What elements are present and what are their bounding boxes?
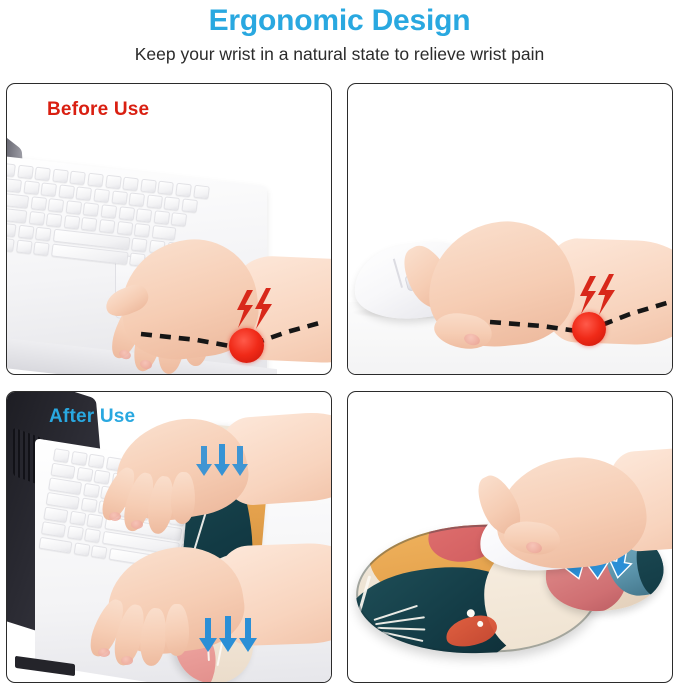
scene-keyboard-no-rest xyxy=(7,84,331,374)
scene-mouse-with-rest xyxy=(348,392,672,682)
panel-before-mouse xyxy=(347,83,673,375)
page-title: Ergonomic Design xyxy=(0,2,679,40)
panel-after-mouse xyxy=(347,391,673,683)
pain-indicator-group xyxy=(488,266,672,358)
lightning-bolt-icon xyxy=(233,288,279,330)
mouse-hand xyxy=(478,444,672,594)
finger xyxy=(165,604,189,656)
pain-indicator-group xyxy=(137,282,327,372)
fingernail xyxy=(121,656,133,665)
scene-keyboard-with-rest xyxy=(7,392,331,682)
panel-before-keyboard: Before Use xyxy=(6,83,332,375)
panel-label-after: After Use xyxy=(49,406,135,428)
header: Ergonomic Design Keep your wrist in a na… xyxy=(0,0,679,67)
page-subtitle: Keep your wrist in a natural state to re… xyxy=(0,41,679,67)
pain-point-dot xyxy=(229,328,264,363)
panel-label-before: Before Use xyxy=(47,99,149,121)
comparison-grid: Before Use xyxy=(6,83,673,683)
wrist-angle-dashed-line xyxy=(137,282,327,372)
typing-hand-lower xyxy=(89,528,331,682)
fingernail xyxy=(98,648,110,657)
support-arrows-lower xyxy=(197,616,263,656)
scene-mouse-no-rest xyxy=(348,84,672,374)
lightning-bolt-icon xyxy=(576,274,622,316)
pain-point-dot xyxy=(572,312,606,346)
fingernail xyxy=(109,512,121,521)
support-arrows-upper xyxy=(193,444,255,480)
panel-after-keyboard: After Use xyxy=(6,391,332,683)
infographic-page: Ergonomic Design Keep your wrist in a na… xyxy=(0,0,679,689)
